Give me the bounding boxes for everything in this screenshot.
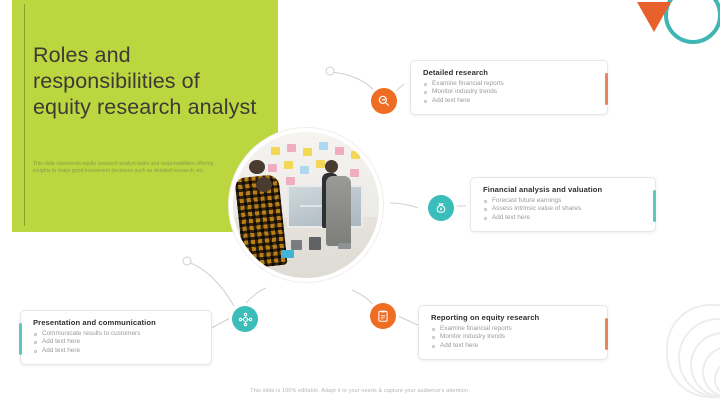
- list-item: Assess intrinsic value of shares: [483, 205, 645, 213]
- card-reporting[interactable]: Reporting on equity research Examine fin…: [418, 305, 608, 360]
- magnifier-research-icon: [377, 94, 391, 108]
- card-bullet-list: Examine financial reports Monitor indust…: [423, 80, 597, 105]
- node-detailed-research[interactable]: [371, 88, 397, 114]
- card-title: Reporting on equity research: [431, 313, 597, 322]
- card-bullet-list: Examine financial reports Monitor indust…: [431, 325, 597, 350]
- panel-divider-line: [24, 4, 25, 226]
- list-item: Add text here: [423, 97, 597, 105]
- list-item: Monitor industry trends: [423, 88, 597, 96]
- card-detailed-research[interactable]: Detailed research Examine financial repo…: [410, 60, 608, 115]
- money-bag-icon: [434, 201, 448, 215]
- node-reporting[interactable]: [370, 303, 396, 329]
- card-bullet-list: Communicate results to customers Add tex…: [33, 330, 201, 355]
- teal-ring-decoration: [664, 0, 720, 44]
- card-accent-bar: [605, 318, 608, 350]
- card-title: Financial analysis and valuation: [483, 185, 645, 194]
- card-accent-bar: [653, 190, 656, 222]
- card-bullet-list: Forecast future earnings Assess intrinsi…: [483, 197, 645, 222]
- orange-triangle-decoration: [637, 2, 671, 32]
- list-item: Forecast future earnings: [483, 197, 645, 205]
- clipboard-report-icon: [376, 309, 390, 323]
- presentation-network-icon: [238, 312, 253, 327]
- footer-note: This slide is 100% editable. Adapt it to…: [0, 388, 720, 394]
- slide-subtitle: This slide represents equity research an…: [33, 161, 221, 174]
- card-title: Detailed research: [423, 68, 597, 77]
- list-item: Add text here: [33, 347, 201, 355]
- list-item: Add text here: [483, 214, 645, 222]
- list-item: Examine financial reports: [431, 325, 597, 333]
- card-title: Presentation and communication: [33, 318, 201, 327]
- list-item: Examine financial reports: [423, 80, 597, 88]
- concentric-arcs-decoration: [652, 306, 720, 398]
- center-photo: [233, 132, 379, 278]
- list-item: Communicate results to customers: [33, 330, 201, 338]
- list-item: Add text here: [33, 338, 201, 346]
- page-title: Roles and responsibilities of equity res…: [33, 42, 261, 120]
- list-item: Add text here: [431, 342, 597, 350]
- node-financial-analysis[interactable]: [428, 195, 454, 221]
- card-presentation[interactable]: Presentation and communication Communica…: [20, 310, 212, 365]
- list-item: Monitor industry trends: [431, 333, 597, 341]
- node-presentation[interactable]: [232, 306, 258, 332]
- card-accent-bar: [605, 73, 608, 105]
- card-accent-bar: [19, 323, 22, 355]
- card-financial-analysis[interactable]: Financial analysis and valuation Forecas…: [470, 177, 656, 232]
- slide-canvas: Roles and responsibilities of equity res…: [0, 0, 720, 404]
